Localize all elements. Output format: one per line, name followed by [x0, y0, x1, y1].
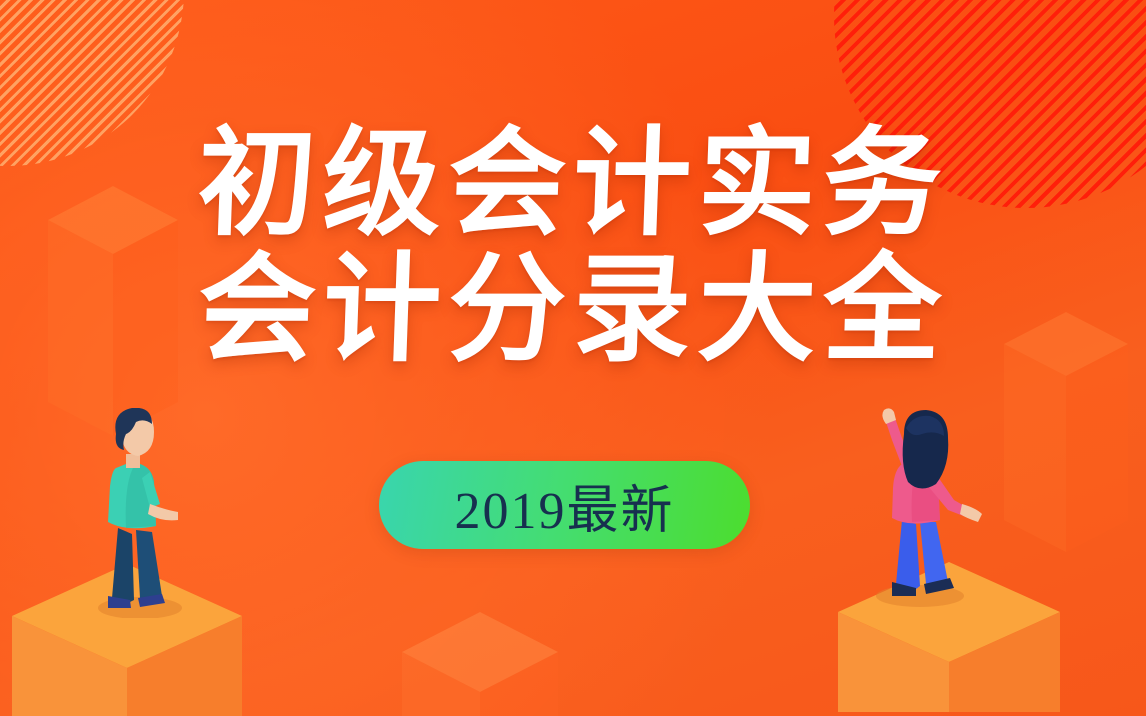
cube-bottom-center: [402, 612, 558, 716]
standing-person-left: [82, 408, 192, 623]
year-badge-label: 2019最新: [454, 468, 674, 543]
cube-right-tall: [1004, 312, 1128, 552]
cheering-person-right: [862, 404, 992, 615]
red-striped-circle: [834, 0, 1146, 208]
cube-left-tall: [48, 186, 178, 436]
poster-canvas: 初级会计实务 会计分录大全 2019最新: [0, 0, 1146, 716]
year-badge[interactable]: 2019最新: [379, 461, 750, 549]
orange-striped-circle: [0, 0, 184, 166]
